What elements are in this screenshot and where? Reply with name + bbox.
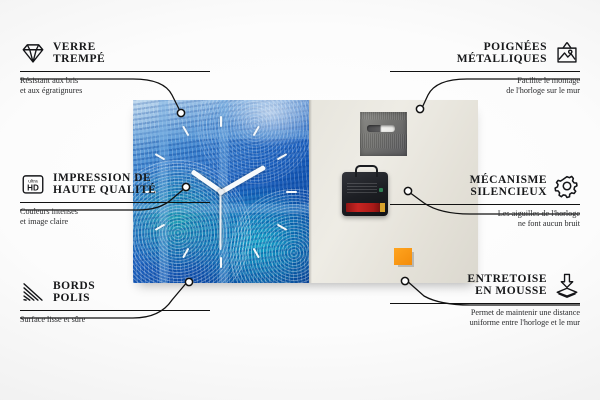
callout-rule <box>20 71 210 72</box>
callout-high-quality-print: ultra HD IMPRESSION DE HAUTE QUALITÉ Cou… <box>20 171 210 227</box>
callout-desc-line1: Couleurs intenses <box>20 207 78 216</box>
callout-desc-line2: ne font aucun bruit <box>518 219 580 228</box>
callout-metal-handles: POIGNÉES MÉTALLIQUES Facilite le montage… <box>390 40 580 96</box>
callout-rule <box>390 71 580 72</box>
clock-tick <box>220 257 222 268</box>
callout-title-line2: EN MOUSSE <box>475 285 547 297</box>
callout-title-line2: POLIS <box>53 292 90 304</box>
callout-rule <box>20 202 210 203</box>
hanging-frame-icon <box>554 40 580 66</box>
callout-desc-line1: Facilite le montage <box>517 76 580 85</box>
mechanism-hanging-loop <box>355 165 378 177</box>
callout-title-line2: HAUTE QUALITÉ <box>53 184 156 196</box>
clock-center-cap <box>218 189 224 195</box>
callout-polished-edges: BORDS POLIS Surface lisse et sûre <box>20 279 210 325</box>
callout-rule <box>390 303 580 304</box>
callout-desc-line2: de l'horloge sur le mur <box>506 86 580 95</box>
callout-title-line1: VERRE <box>53 41 96 53</box>
callout-title-line1: ENTRETOISE <box>467 273 547 285</box>
foam-spacer-icon <box>554 272 580 298</box>
callout-rule <box>20 310 210 311</box>
callout-silent-mechanism: MÉCANISME SILENCIEUX Les aiguilles de l'… <box>390 173 580 229</box>
callout-title-line1: BORDS <box>53 280 95 292</box>
callout-title-line1: MÉCANISME <box>470 174 547 186</box>
gear-icon <box>554 173 580 199</box>
clock-mechanism <box>342 172 388 216</box>
clock-tick <box>220 116 222 127</box>
ultra-hd-icon: ultra HD <box>20 171 46 197</box>
foam-spacer-sticker <box>394 248 412 265</box>
callout-desc-line2: et aux égratignures <box>20 86 82 95</box>
mechanism-label <box>347 181 377 193</box>
callout-tempered-glass: VERRE TREMPÉ Résistant aux bris et aux é… <box>20 40 210 96</box>
diamond-icon <box>20 40 46 66</box>
callout-desc-line1: Surface lisse et sûre <box>20 315 85 324</box>
callout-desc-line1: Permet de maintenir une distance <box>471 308 580 317</box>
callout-desc-line2: et image claire <box>20 217 68 226</box>
metal-hanger-plate <box>360 112 407 156</box>
callout-title-line2: MÉTALLIQUES <box>457 53 547 65</box>
infographic-canvas: VERRE TREMPÉ Résistant aux bris et aux é… <box>0 0 600 400</box>
callout-desc-line2: uniforme entre l'horloge et le mur <box>470 318 580 327</box>
hanger-keyhole-slot <box>367 125 395 132</box>
clock-tick <box>286 191 297 193</box>
callout-title-line1: IMPRESSION DE <box>53 172 151 184</box>
svg-text:HD: HD <box>27 184 39 193</box>
battery-terminal <box>380 203 385 212</box>
panel-edge-shadow <box>309 100 312 283</box>
polished-edge-icon <box>20 279 46 305</box>
battery <box>346 203 380 212</box>
mechanism-indicator <box>379 188 383 192</box>
callout-foam-spacer: ENTRETOISE EN MOUSSE Permet de maintenir… <box>390 272 580 328</box>
callout-rule <box>390 204 580 205</box>
callout-desc-line1: Résistant aux bris <box>20 76 78 85</box>
callout-title-line2: TREMPÉ <box>53 53 105 65</box>
callout-title-line2: SILENCIEUX <box>470 186 547 198</box>
callout-desc-line1: Les aiguilles de l'horloge <box>498 209 580 218</box>
callout-title-line1: POIGNÉES <box>484 41 547 53</box>
